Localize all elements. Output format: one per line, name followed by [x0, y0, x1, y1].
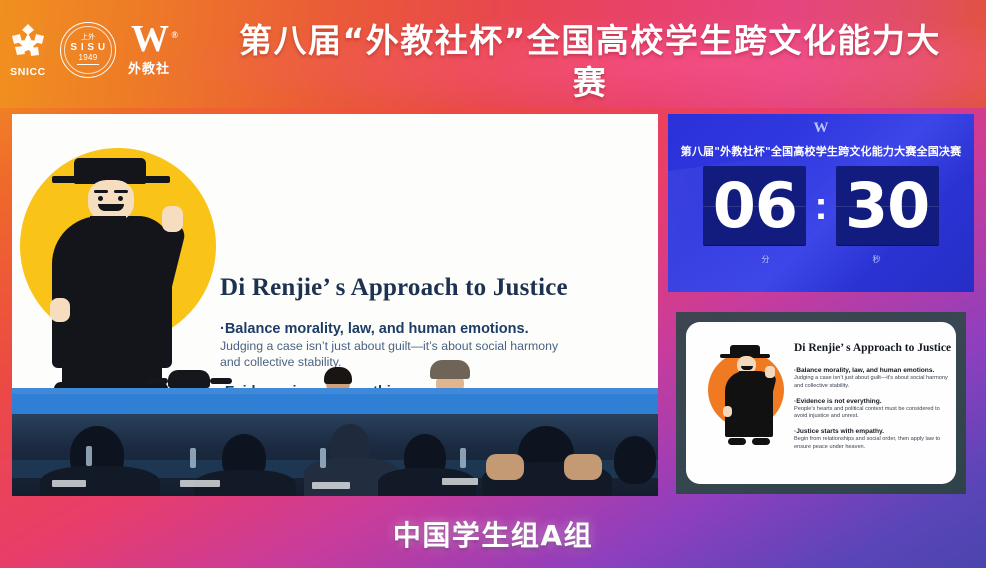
audience-document [442, 478, 478, 485]
sisu-year-text: 1949 [79, 53, 98, 62]
di-renjie-raised-hand [162, 206, 183, 232]
sflep-logo: W® 外教社 [128, 22, 170, 77]
timer-seconds-label: 秒 [825, 254, 928, 265]
snicc-star-icon [8, 22, 48, 62]
broadcast-stage: SNICC 上外 S I S U 1949 W® 外教社 第八届“外教社杯”全国… [0, 0, 986, 568]
timer-unit-labels: 分 秒 [668, 254, 974, 265]
slide-bullet-text: Judging a case isn’t just about guilt—it… [220, 339, 570, 370]
pip-bullet-heading: ·Justice starts with empathy. [794, 427, 952, 436]
event-header-banner: SNICC 上外 S I S U 1949 W® 外教社 第八届“外教社杯”全国… [0, 0, 986, 108]
pip-di-renjie-illustration [714, 340, 780, 450]
timer-digit-row: 06 : 30 [668, 166, 974, 246]
audience-document [180, 480, 220, 487]
sisu-seal-icon: 上外 S I S U 1949 [60, 22, 116, 78]
registered-mark: ® [171, 18, 176, 52]
timer-minutes-card: 06 [703, 166, 806, 246]
pip-slide-title: Di Renjie’ s Approach to Justice [794, 342, 951, 354]
pip-slide-body: ·Balance morality, law, and human emotio… [794, 366, 952, 458]
main-video-feed[interactable]: Di Renjie’ s Approach to Justice ·Balanc… [12, 114, 658, 496]
audience-head [614, 436, 656, 484]
performer-hat-wing-right [210, 378, 232, 384]
audience-hand-right [564, 454, 602, 480]
audience-document [312, 482, 350, 489]
header-logo-group: SNICC 上外 S I S U 1949 W® 外教社 [8, 22, 170, 78]
snicc-label: SNICC [10, 66, 46, 78]
pip-bullet-text: Begin from relationships and social orde… [794, 436, 952, 451]
audience-foreground [12, 414, 658, 496]
countdown-timer-panel: W 第八届"外教社杯"全国高校学生跨文化能力大赛全国决赛 06 : 30 分 秒 [668, 114, 974, 292]
timer-heading: 第八届"外教社杯"全国高校学生跨文化能力大赛全国决赛 [668, 143, 974, 159]
performer-hat-wing-left [146, 378, 168, 384]
timer-minutes-label: 分 [714, 254, 817, 265]
sflep-w-glyph: W [131, 18, 167, 60]
caption-text: 中国学生组A组 [393, 514, 593, 554]
audience-hand-left [486, 454, 524, 480]
event-title-en: The 8th SFLEP Cup National College Stude… [222, 107, 958, 108]
di-renjie-brow-left [94, 190, 108, 193]
slide-preview-card: Di Renjie’ s Approach to Justice ·Balanc… [686, 322, 956, 484]
pip-di-renjie-lower-hand [723, 406, 732, 417]
di-renjie-eye-right [118, 196, 123, 201]
pip-bullet: ·Justice starts with empathy. Begin from… [794, 427, 952, 451]
di-renjie-eye-left [98, 196, 103, 201]
di-renjie-beard [90, 216, 126, 258]
pip-di-renjie-beard [739, 371, 754, 388]
lower-third-caption: 中国学生组A组 [0, 500, 986, 568]
pip-bullet-heading: ·Evidence is not everything. [794, 397, 952, 406]
di-renjie-lower-hand [50, 298, 70, 322]
performer-hat [168, 370, 210, 388]
sflep-label: 外教社 [128, 58, 170, 77]
pip-bullet-heading: ·Balance morality, law, and human emotio… [794, 366, 952, 375]
slide-bullet-heading: ·Balance morality, law, and human emotio… [220, 320, 570, 338]
timer-seconds-value: 30 [845, 175, 929, 237]
pip-bullet: ·Evidence is not everything. People’s he… [794, 397, 952, 421]
pip-di-renjie-shoe-left [728, 438, 746, 445]
di-renjie-moustache [98, 204, 124, 211]
slide-bullet: ·Balance morality, law, and human emotio… [220, 320, 570, 370]
audience-document [52, 480, 86, 487]
performer-hair [324, 367, 352, 384]
sisu-logo: 上外 S I S U 1949 [60, 22, 116, 78]
pip-bullet: ·Balance morality, law, and human emotio… [794, 366, 952, 390]
event-title-cn: 第八届“外教社杯”全国高校学生跨文化能力大赛 [222, 20, 958, 104]
slide-preview-panel[interactable]: Di Renjie’ s Approach to Justice ·Balanc… [676, 312, 966, 494]
di-renjie-illustration [30, 150, 210, 402]
slide-title: Di Renjie’ s Approach to Justice [220, 274, 568, 302]
pip-di-renjie-raised-hand [765, 366, 775, 378]
water-bottle [86, 446, 92, 466]
timer-logo-icon: W [814, 120, 829, 137]
sisu-top-text: 上外 [81, 34, 95, 42]
timer-seconds-card: 30 [836, 166, 939, 246]
sflep-w-icon: W® [131, 22, 167, 56]
water-bottle [460, 448, 466, 468]
sisu-mid-text: S I S U [70, 42, 105, 53]
header-titles: 第八届“外教社杯”全国高校学生跨文化能力大赛 The 8th SFLEP Cup… [222, 20, 958, 108]
sisu-divider [77, 64, 99, 66]
performer-cap [430, 360, 470, 379]
pip-bullet-text: Judging a case isn’t just about guilt—it… [794, 375, 952, 390]
pip-di-renjie-shoe-right [752, 438, 770, 445]
di-renjie-brow-right [114, 190, 128, 193]
pip-bullet-text: People’s hearts and political context mu… [794, 406, 952, 421]
timer-colon: : [814, 186, 827, 226]
timer-minutes-value: 06 [713, 175, 797, 237]
projection-screen: Di Renjie’ s Approach to Justice ·Balanc… [12, 114, 658, 424]
water-bottle [190, 448, 196, 468]
water-bottle [320, 448, 326, 468]
snicc-logo: SNICC [8, 22, 48, 78]
